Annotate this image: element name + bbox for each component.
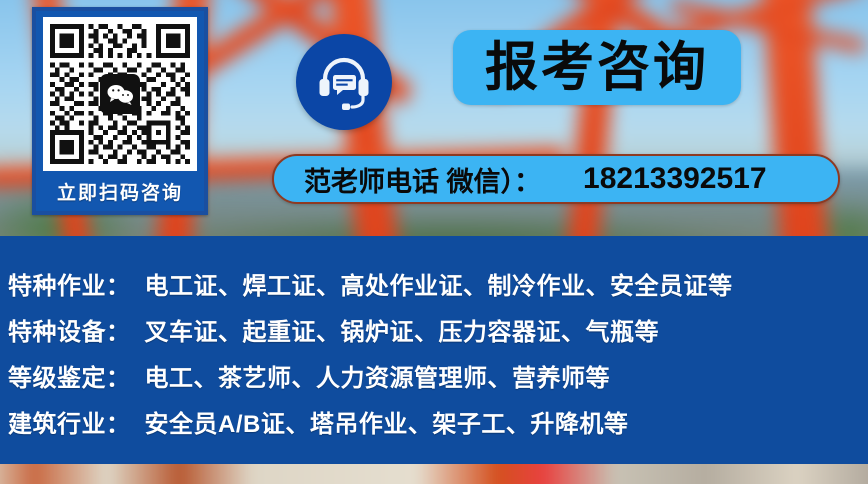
category-value: 电工、茶艺师、人力资源管理师、营养师等	[145, 358, 611, 393]
contact-label: 范老师电话 微信）：	[304, 160, 541, 199]
page-title: 报考咨询	[485, 41, 709, 94]
category-label: 建筑行业：	[8, 404, 131, 439]
category-row: 等级鉴定： 电工、茶艺师、人力资源管理师、营养师等	[8, 358, 610, 393]
contact-phone-number[interactable]: 18213392517	[583, 162, 767, 196]
category-row: 特种作业： 电工证、焊工证、高处作业证、制冷作业、安全员证等	[8, 266, 733, 301]
wechat-icon	[100, 74, 140, 114]
qr-code-image[interactable]	[43, 17, 197, 171]
qr-code-card[interactable]: 立即扫码咨询	[32, 7, 208, 215]
category-row: 建筑行业： 安全员A/B证、塔吊作业、架子工、升降机等	[8, 404, 628, 439]
title-badge: 报考咨询	[453, 30, 741, 105]
category-value: 电工证、焊工证、高处作业证、制冷作业、安全员证等	[145, 266, 733, 301]
headset-glyph	[313, 51, 375, 113]
category-label: 等级鉴定：	[8, 358, 131, 393]
bottom-photo-strip	[0, 464, 868, 484]
category-label: 特种作业：	[8, 266, 131, 301]
promo-banner: 立即扫码咨询 报考咨询 范老师电话 微信）： 18213392517	[0, 0, 868, 484]
category-label: 特种设备：	[8, 312, 131, 347]
category-value: 叉车证、起重证、锅炉证、压力容器证、气瓶等	[145, 312, 660, 347]
headset-support-icon	[296, 34, 392, 130]
category-value: 安全员A/B证、塔吊作业、架子工、升降机等	[145, 404, 629, 439]
category-row: 特种设备： 叉车证、起重证、锅炉证、压力容器证、气瓶等	[8, 312, 659, 347]
wechat-glyph	[106, 83, 134, 105]
bottom-photo-blur-layer	[0, 464, 868, 484]
contact-badge[interactable]: 范老师电话 微信）： 18213392517	[272, 154, 840, 204]
qr-card-caption: 立即扫码咨询	[57, 178, 183, 205]
certificate-categories-panel: 特种作业： 电工证、焊工证、高处作业证、制冷作业、安全员证等 特种设备： 叉车证…	[0, 236, 868, 464]
